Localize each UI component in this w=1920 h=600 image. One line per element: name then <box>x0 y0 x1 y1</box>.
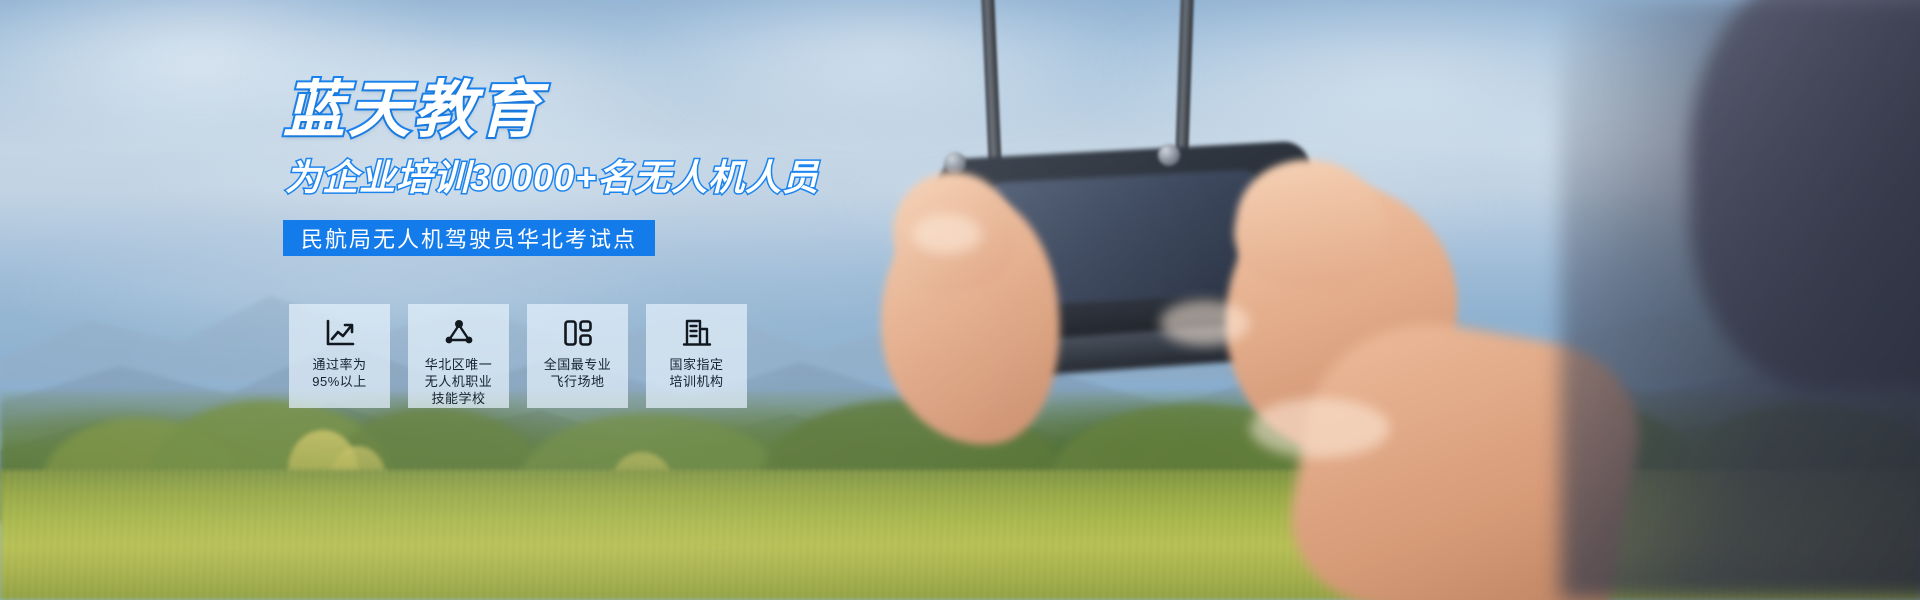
feature-card-flight-field[interactable]: 全国最专业 飞行场地 <box>527 304 628 408</box>
feature-card-label: 华北区唯一 无人机职业 技能学校 <box>425 356 493 407</box>
chart-trend-up-icon <box>323 316 357 350</box>
hero-banner: 蓝天教育 为企业培训30000+名无人机人员 民航局无人机驾驶员华北考试点 通过… <box>0 0 1920 600</box>
layout-panels-icon <box>561 316 595 350</box>
person-torso <box>1560 0 1920 600</box>
finger-highlight <box>1160 300 1250 346</box>
feature-card-vocational-school[interactable]: 华北区唯一 无人机职业 技能学校 <box>408 304 509 408</box>
certification-badge-label: 民航局无人机驾驶员华北考试点 <box>301 222 637 254</box>
controller-stick-right <box>1158 144 1180 166</box>
feature-card-list: 通过率为 95%以上 华北区唯一 无人机职业 技能学校 <box>289 304 747 408</box>
finger-highlight <box>1250 398 1390 458</box>
feature-card-pass-rate[interactable]: 通过率为 95%以上 <box>289 304 390 408</box>
network-nodes-icon <box>442 316 476 350</box>
banner-content: 蓝天教育 为企业培训30000+名无人机人员 民航局无人机驾驶员华北考试点 通过… <box>283 0 1043 600</box>
banner-subtitle: 为企业培训30000+名无人机人员 <box>285 160 819 196</box>
controller-antenna-right <box>1175 0 1194 165</box>
feature-card-label: 全国最专业 飞行场地 <box>544 356 612 390</box>
building-icon <box>680 316 714 350</box>
feature-card-label: 国家指定 培训机构 <box>669 356 723 390</box>
feature-card-label: 通过率为 95%以上 <box>312 356 367 390</box>
certification-badge: 民航局无人机驾驶员华北考试点 <box>283 220 655 256</box>
brand-title: 蓝天教育 <box>283 80 543 142</box>
feature-card-state-institution[interactable]: 国家指定 培训机构 <box>646 304 747 408</box>
